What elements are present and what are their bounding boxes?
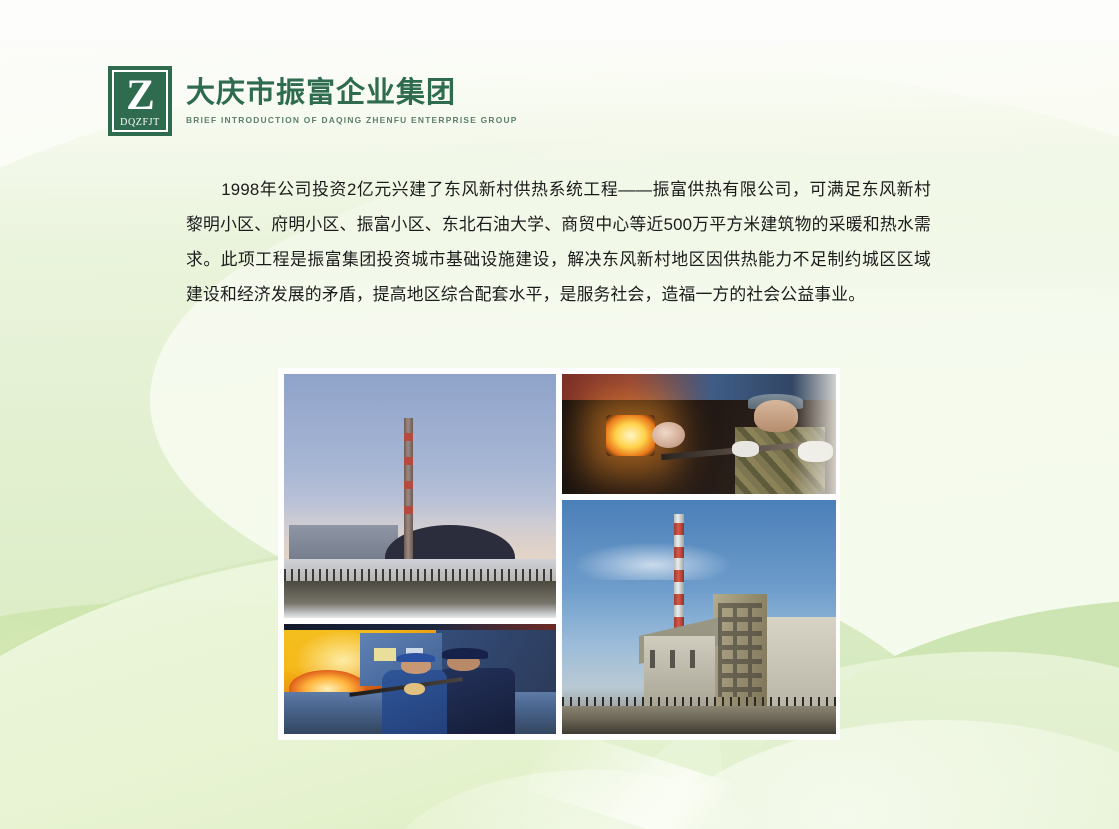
logo-abbreviation: DQZFJT	[120, 117, 160, 128]
photo-boiler-house	[562, 500, 836, 734]
photo-control-room	[284, 624, 556, 734]
company-logo-icon: Z DQZFJT	[108, 66, 172, 136]
logo-monogram: Z	[126, 75, 154, 116]
photo-furnace-worker	[562, 374, 836, 494]
photo-plant-dusk	[284, 374, 556, 618]
logo-inner-frame: Z DQZFJT	[112, 70, 168, 132]
collage-column-right	[562, 374, 836, 734]
collage-column-left	[284, 374, 556, 734]
photo-collage	[278, 368, 840, 740]
company-tagline-english: BRIEF INTRODUCTION OF DAQING ZHENFU ENTE…	[186, 115, 518, 125]
brand-header: Z DQZFJT 大庆市振富企业集团 BRIEF INTRODUCTION OF…	[108, 66, 518, 136]
background-glow-bottom-2	[380, 770, 800, 829]
background-top-band	[0, 0, 1119, 40]
background-top-band-edge	[0, 40, 1119, 46]
slide-page: Z DQZFJT 大庆市振富企业集团 BRIEF INTRODUCTION OF…	[0, 0, 1119, 829]
body-paragraph: 1998年公司投资2亿元兴建了东风新村供热系统工程——振富供热有限公司，可满足东…	[186, 172, 931, 312]
company-name-chinese: 大庆市振富企业集团	[186, 78, 518, 110]
brand-text-block: 大庆市振富企业集团 BRIEF INTRODUCTION OF DAQING Z…	[186, 66, 518, 125]
